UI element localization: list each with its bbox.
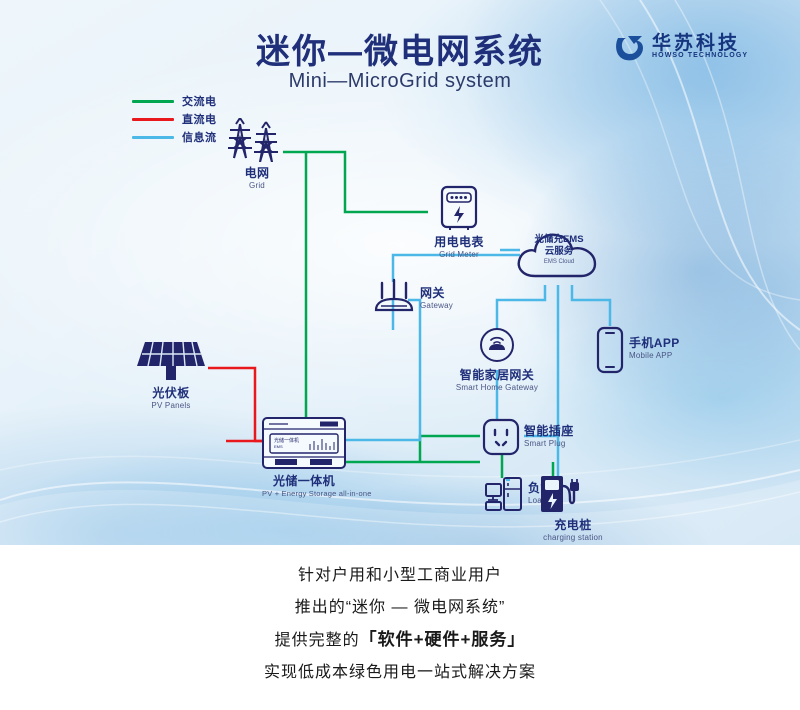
ems-cloud-line-en: EMS Cloud (513, 258, 605, 267)
node-gateway[interactable]: 网关 Gateway (372, 278, 418, 318)
bottom-line-2: 推出的“迷你 — 微电网系统” (0, 592, 800, 624)
node-mobile-app-label-en: Mobile APP (629, 351, 680, 360)
node-gateway-label-cn: 网关 (420, 284, 453, 301)
hero-banner: 迷你—微电网系统 Mini—MicroGrid system 华苏科技 HOWS… (0, 0, 800, 545)
solar-panel-icon (133, 336, 209, 382)
node-smart-plug-label-en: Smart Plug (524, 439, 574, 448)
node-ems-cloud[interactable]: 光储充EMS 云服务 EMS Cloud (513, 222, 605, 284)
electric-meter-icon (438, 185, 480, 231)
node-pv-panels-label-en: PV Panels (130, 401, 212, 410)
node-grid[interactable]: 电网 Grid (226, 118, 288, 190)
node-all-in-one-label-en: PV + Energy Storage all-in-one (262, 489, 346, 498)
node-all-in-one[interactable]: 光储一体机 EMS 光储一体机 PV + Energy Storage all-… (262, 417, 346, 498)
ems-cloud-line2: 云服务 (513, 246, 605, 258)
smart-home-gateway-icon (478, 326, 516, 364)
connection-lines (0, 0, 800, 545)
node-smart-plug-label-cn: 智能插座 (524, 422, 574, 439)
ev-charger-icon (539, 474, 587, 514)
node-mobile-app-labels: 手机APP Mobile APP (629, 334, 680, 360)
node-grid-meter-label-en: Grid Meter (428, 250, 490, 259)
node-mobile-app-label-cn: 手机APP (629, 334, 680, 351)
node-pv-panels[interactable]: 光伏板 PV Panels (130, 336, 212, 410)
node-ems-cloud-label: 光储充EMS 云服务 EMS Cloud (513, 234, 605, 267)
node-charging-station[interactable]: 充电桩 charging station (533, 474, 613, 542)
node-smart-home-gateway[interactable]: 智能家居网关 Smart Home Gateway (446, 326, 548, 392)
bottom-line-3-prefix: 提供完整的 (275, 632, 360, 649)
node-grid-meter-label-cn: 用电电表 (428, 233, 490, 250)
node-mobile-app[interactable]: 手机APP Mobile APP (595, 326, 625, 374)
inverter-cabinet-icon: 光储一体机 EMS (262, 417, 346, 469)
router-icon (372, 278, 418, 318)
node-smart-plug[interactable]: 智能插座 Smart Plug (482, 418, 520, 456)
node-charging-label-cn: 充电桩 (533, 516, 613, 533)
node-grid-label-en: Grid (226, 181, 288, 190)
node-smart-plug-labels: 智能插座 Smart Plug (524, 422, 574, 448)
node-charging-label-en: charging station (533, 533, 613, 542)
smartphone-icon (595, 326, 625, 374)
ems-cloud-line1: 光储充EMS (513, 234, 605, 246)
transmission-tower-icon (226, 118, 288, 162)
bottom-line-4: 实现低成本绿色用电一站式解决方案 (0, 657, 800, 689)
node-smart-home-gateway-label-cn: 智能家居网关 (446, 366, 548, 383)
node-grid-meter[interactable]: 用电电表 Grid Meter (428, 185, 490, 259)
node-all-in-one-label-cn: 光储一体机 (262, 472, 346, 489)
svg-text:EMS: EMS (274, 444, 283, 449)
node-smart-home-gateway-label-en: Smart Home Gateway (446, 383, 548, 392)
node-grid-label-cn: 电网 (226, 164, 288, 181)
home-appliances-icon (484, 476, 524, 512)
node-gateway-label-en: Gateway (420, 301, 453, 310)
node-load[interactable]: 负载 Load (484, 476, 524, 512)
node-pv-panels-label-cn: 光伏板 (130, 384, 212, 401)
bottom-line-3-strong: 「软件+硬件+服务」 (360, 630, 526, 649)
node-gateway-labels: 网关 Gateway (420, 284, 453, 310)
svg-text:光储一体机: 光储一体机 (274, 437, 299, 444)
bottom-line-3: 提供完整的「软件+硬件+服务」 (0, 624, 800, 657)
power-socket-icon (482, 418, 520, 456)
bottom-description: 针对户用和小型工商业用户 推出的“迷你 — 微电网系统” 提供完整的「软件+硬件… (0, 560, 800, 689)
bottom-line-1: 针对户用和小型工商业用户 (0, 560, 800, 592)
